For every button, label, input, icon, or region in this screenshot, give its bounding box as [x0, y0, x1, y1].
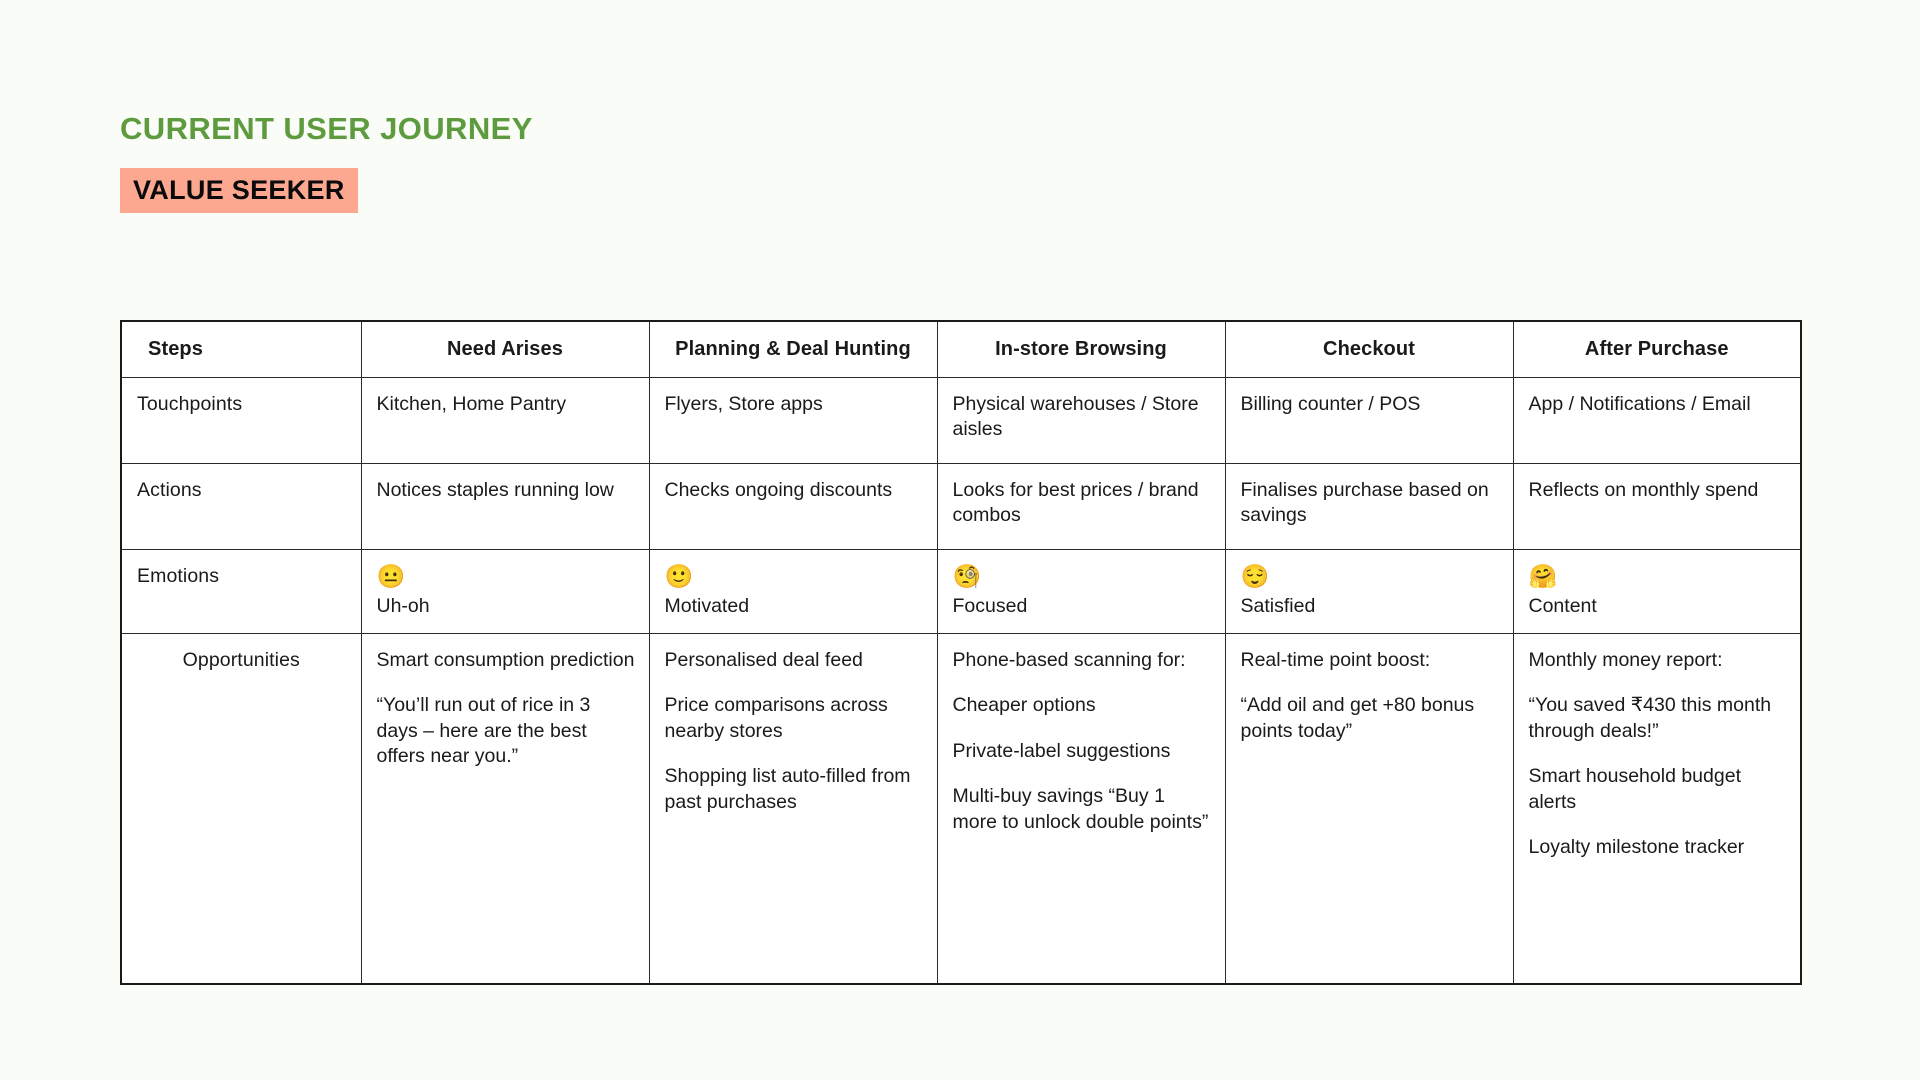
opportunity-item: Personalised deal feed — [665, 648, 923, 673]
table-row-opportunities: Opportunities Smart consumption predicti… — [121, 634, 1801, 984]
emotion-label-in-store: Focused — [953, 594, 1211, 619]
touchpoints-planning: Flyers, Store apps — [649, 377, 937, 463]
opportunity-item: Shopping list auto-filled from past purc… — [665, 764, 923, 815]
table-row-touchpoints: Touchpoints Kitchen, Home Pantry Flyers,… — [121, 377, 1801, 463]
heading-block: CURRENT USER JOURNEY VALUE SEEKER — [120, 112, 533, 213]
emotion-label-checkout: Satisfied — [1241, 594, 1499, 619]
touchpoints-checkout: Billing counter / POS — [1225, 377, 1513, 463]
actions-planning: Checks ongoing discounts — [649, 463, 937, 549]
neutral-face-emoji: 😐 — [377, 564, 635, 589]
touchpoints-need-arises: Kitchen, Home Pantry — [361, 377, 649, 463]
journey-table-wrap: Steps Need Arises Planning & Deal Huntin… — [120, 320, 1800, 985]
column-header-steps: Steps — [121, 321, 361, 377]
slightly-smiling-face-emoji: 🙂 — [665, 564, 923, 589]
opportunity-item: Loyalty milestone tracker — [1529, 835, 1787, 860]
touchpoints-in-store: Physical warehouses / Store aisles — [937, 377, 1225, 463]
opportunity-list: Personalised deal feed Price comparisons… — [665, 648, 923, 815]
persona-badge-wrap: VALUE SEEKER — [120, 168, 533, 213]
opportunities-planning: Personalised deal feed Price comparisons… — [649, 634, 937, 984]
emotion-planning: 🙂 Motivated — [649, 549, 937, 634]
opportunity-list: Real-time point boost: “Add oil and get … — [1241, 648, 1499, 744]
opportunity-item: Cheaper options — [953, 693, 1211, 718]
opportunities-in-store: Phone-based scanning for: Cheaper option… — [937, 634, 1225, 984]
column-header-after-purchase: After Purchase — [1513, 321, 1801, 377]
opportunity-item: “You saved ₹430 this month through deals… — [1529, 693, 1787, 744]
opportunity-item: Multi-buy savings “Buy 1 more to unlock … — [953, 784, 1211, 835]
row-label-emotions: Emotions — [121, 549, 361, 634]
opportunities-checkout: Real-time point boost: “Add oil and get … — [1225, 634, 1513, 984]
emotion-in-store: 🧐 Focused — [937, 549, 1225, 634]
opportunity-item: “Add oil and get +80 bonus points today” — [1241, 693, 1499, 744]
row-label-touchpoints: Touchpoints — [121, 377, 361, 463]
table-row-actions: Actions Notices staples running low Chec… — [121, 463, 1801, 549]
page-title: CURRENT USER JOURNEY — [120, 112, 533, 146]
opportunity-item: Monthly money report: — [1529, 648, 1787, 673]
emotion-after-purchase: 🤗 Content — [1513, 549, 1801, 634]
column-header-need-arises: Need Arises — [361, 321, 649, 377]
opportunity-list: Smart consumption prediction “You’ll run… — [377, 648, 635, 769]
table-row-emotions: Emotions 😐 Uh-oh 🙂 Motivated 🧐 Focused — [121, 549, 1801, 634]
opportunity-list: Phone-based scanning for: Cheaper option… — [953, 648, 1211, 835]
opportunity-item: Real-time point boost: — [1241, 648, 1499, 673]
actions-in-store: Looks for best prices / brand combos — [937, 463, 1225, 549]
column-header-planning-deal-hunting: Planning & Deal Hunting — [649, 321, 937, 377]
relieved-face-emoji: 😌 — [1241, 564, 1499, 589]
actions-need-arises: Notices staples running low — [361, 463, 649, 549]
actions-checkout: Finalises purchase based on savings — [1225, 463, 1513, 549]
row-label-actions: Actions — [121, 463, 361, 549]
opportunity-list: Monthly money report: “You saved ₹430 th… — [1529, 648, 1787, 860]
opportunity-item: Smart consumption prediction — [377, 648, 635, 673]
touchpoints-after-purchase: App / Notifications / Email — [1513, 377, 1801, 463]
opportunities-need-arises: Smart consumption prediction “You’ll run… — [361, 634, 649, 984]
hugging-face-emoji: 🤗 — [1529, 564, 1787, 589]
journey-map-page: CURRENT USER JOURNEY VALUE SEEKER Steps … — [0, 0, 1920, 1080]
opportunities-after-purchase: Monthly money report: “You saved ₹430 th… — [1513, 634, 1801, 984]
opportunity-item: Smart household budget alerts — [1529, 764, 1787, 815]
user-journey-table: Steps Need Arises Planning & Deal Huntin… — [120, 320, 1802, 985]
opportunity-item: “You’ll run out of rice in 3 days – here… — [377, 693, 635, 769]
persona-badge: VALUE SEEKER — [120, 168, 358, 213]
row-label-opportunities: Opportunities — [121, 634, 361, 984]
column-header-checkout: Checkout — [1225, 321, 1513, 377]
actions-after-purchase: Reflects on monthly spend — [1513, 463, 1801, 549]
emotion-label-after-purchase: Content — [1529, 594, 1787, 619]
emotion-label-planning: Motivated — [665, 594, 923, 619]
column-header-in-store-browsing: In-store Browsing — [937, 321, 1225, 377]
table-header-row: Steps Need Arises Planning & Deal Huntin… — [121, 321, 1801, 377]
monocle-face-emoji: 🧐 — [953, 564, 1211, 589]
opportunity-item: Private-label suggestions — [953, 739, 1211, 764]
emotion-label-need-arises: Uh-oh — [377, 594, 635, 619]
opportunity-item: Price comparisons across nearby stores — [665, 693, 923, 744]
emotion-need-arises: 😐 Uh-oh — [361, 549, 649, 634]
emotion-checkout: 😌 Satisfied — [1225, 549, 1513, 634]
opportunity-item: Phone-based scanning for: — [953, 648, 1211, 673]
